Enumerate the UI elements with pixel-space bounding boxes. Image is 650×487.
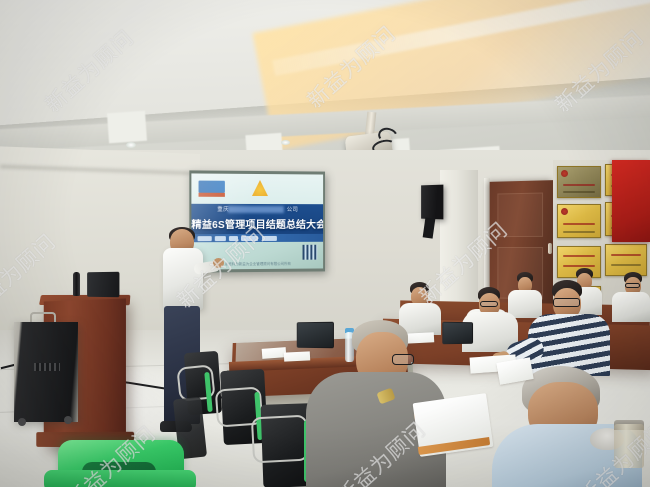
downlight <box>281 140 290 145</box>
podium-laptop <box>87 272 119 297</box>
laptop <box>297 322 334 348</box>
award-plaque <box>557 166 601 198</box>
meeting-room-photo: 重庆公司 精益6S管理项目结题总结大会 本资料为新益为企业管理顾问有限公司所有 <box>0 0 650 487</box>
slide-company-suffix: 公司 <box>287 207 298 213</box>
glasses-icon <box>392 354 414 365</box>
slide-nav-chip <box>198 236 212 241</box>
plaque-seal-icon <box>561 208 568 215</box>
plaque-text-line <box>563 265 595 267</box>
chair-armrest <box>251 415 309 464</box>
slide-nav-chip <box>229 236 238 241</box>
paper-document <box>404 332 434 344</box>
slide-redaction-blur <box>228 205 284 212</box>
paper-document <box>262 347 287 359</box>
slide-main-title: 精益6S管理项目结题总结大会 <box>191 216 323 231</box>
glasses-icon <box>480 301 498 307</box>
plaque-text-line <box>611 264 641 266</box>
slide-nav-chip <box>215 236 226 241</box>
plaque-text-line <box>563 255 595 257</box>
plaque-text-line <box>563 223 595 225</box>
corner-pillar <box>440 170 478 320</box>
plaque-text-line <box>563 184 595 186</box>
laptop-screen <box>443 323 472 343</box>
door-panel <box>497 193 543 238</box>
amplifier-wheel <box>18 418 26 426</box>
microphone-icon <box>73 272 80 296</box>
torso <box>508 290 542 318</box>
glasses-icon <box>625 283 640 288</box>
qr-code-icon <box>303 245 318 260</box>
glass-jar <box>614 424 644 468</box>
downlight <box>126 142 136 148</box>
paper-document <box>284 351 310 361</box>
torso <box>163 248 203 310</box>
amplifier-case <box>14 322 78 422</box>
laptop <box>442 322 473 344</box>
door-handle[interactable] <box>548 243 552 254</box>
red-banner <box>612 160 650 242</box>
plaque-text-line <box>611 254 641 256</box>
amplifier-wheel <box>64 416 72 424</box>
amplifier-grille <box>34 363 60 371</box>
projection-screen-surface: 重庆公司 精益6S管理项目结题总结大会 本资料为新益为企业管理顾问有限公司所有 <box>191 173 323 269</box>
plaque-text-line <box>563 191 595 193</box>
consulting-logo-icon <box>199 181 225 193</box>
laptop-screen <box>298 323 333 347</box>
hand <box>213 258 224 268</box>
ceiling-access-panel <box>107 111 147 144</box>
amplifier-handle <box>30 312 56 322</box>
plaque-text-line <box>563 231 595 233</box>
projection-screen: 重庆公司 精益6S管理项目结题总结大会 本资料为新益为企业管理顾问有限公司所有 <box>189 170 325 272</box>
consulting-logo-underline <box>199 193 225 197</box>
award-plaque <box>557 204 601 238</box>
plaque-seal-icon <box>561 170 568 177</box>
torso <box>612 292 650 322</box>
slide-nav-chip <box>241 236 258 241</box>
glasses-icon <box>553 298 580 307</box>
green-chair-seat <box>44 470 196 487</box>
wall-speaker-icon <box>421 185 443 220</box>
slide-nav-chip <box>262 235 277 240</box>
award-plaque <box>605 244 647 276</box>
